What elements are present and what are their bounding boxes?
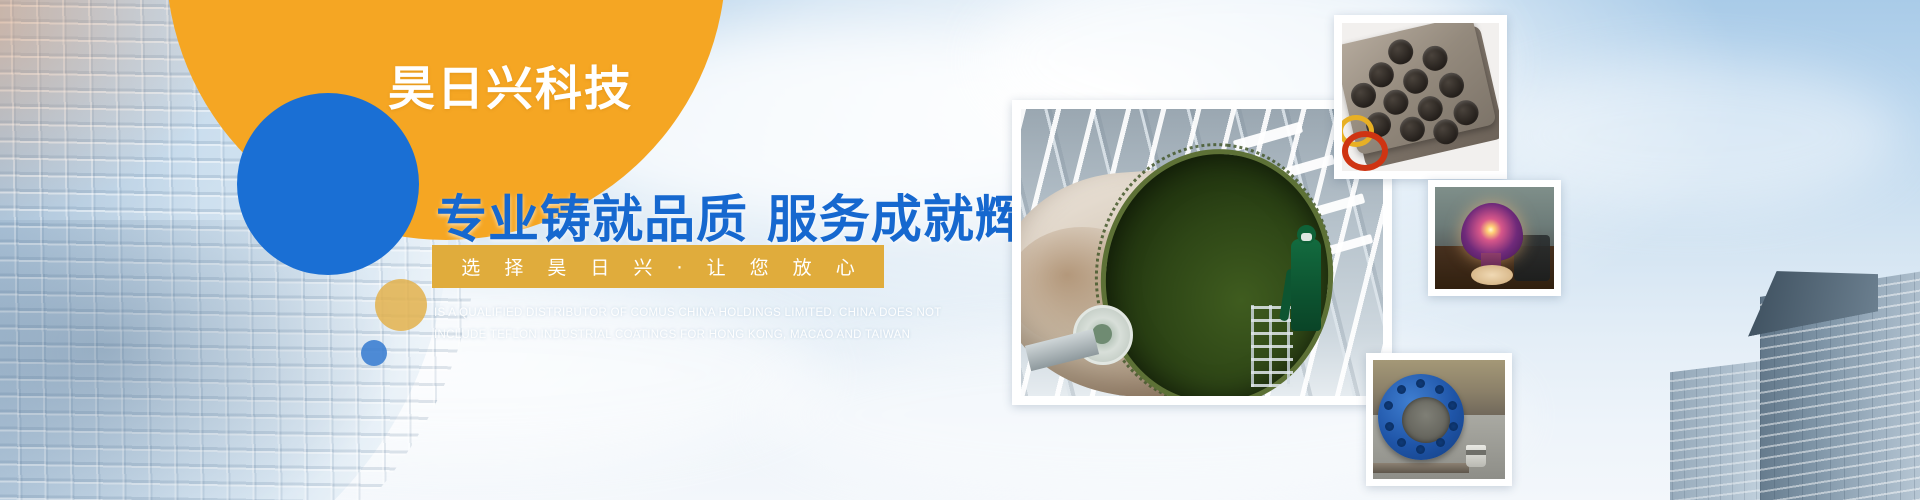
skyscraper-graphic xyxy=(1670,270,1920,500)
flange-center-bore xyxy=(1402,397,1450,443)
blue-coated-flange-photo xyxy=(1366,353,1512,486)
skyscraper-secondary xyxy=(1670,360,1770,500)
paint-bucket xyxy=(1466,445,1486,467)
headline-slogan: 专业铸就品质 服务成就辉煌 xyxy=(436,178,1079,252)
worker-in-green-suit xyxy=(1291,239,1321,331)
flange-bolt-hole xyxy=(1416,379,1425,388)
flange-bolt-hole xyxy=(1435,385,1444,394)
infrared-heat-lamp-photo xyxy=(1428,180,1561,296)
flange-bolt-hole xyxy=(1385,422,1394,431)
pan-photo-scene xyxy=(1342,23,1499,171)
pan-cup xyxy=(1381,87,1411,117)
hand-holding-bulb xyxy=(1471,265,1513,285)
nonstick-baking-pan-photo xyxy=(1334,15,1507,179)
slogan-bar: 选 择 昊 日 兴 · 让 您 放 心 xyxy=(432,245,884,288)
pan-cup xyxy=(1386,37,1416,67)
flange-bolt-hole xyxy=(1384,401,1393,410)
legal-line-1: IS A QUALIFIED DISTRIBUTOR OF COMUS CHIN… xyxy=(434,302,914,324)
worker-mask xyxy=(1301,233,1312,241)
red-coated-ring xyxy=(1342,131,1388,171)
flange-bolt-hole xyxy=(1416,445,1425,454)
wooden-pallet xyxy=(1373,463,1469,473)
legal-disclaimer-text: IS A QUALIFIED DISTRIBUTOR OF COMUS CHIN… xyxy=(434,302,914,346)
flange-bolt-hole xyxy=(1397,438,1406,447)
pan-cup xyxy=(1401,66,1431,96)
flange-bolt-hole xyxy=(1397,385,1406,394)
gold-dot-decoration xyxy=(375,279,427,331)
promotional-banner: 昊日兴科技 专业铸就品质 服务成就辉煌 选 择 昊 日 兴 · 让 您 放 心 … xyxy=(0,0,1920,500)
flange-bolt-hole xyxy=(1448,401,1457,410)
flange-photo-scene xyxy=(1373,360,1505,479)
vessel-photo-scene xyxy=(1021,109,1383,396)
pan-cup xyxy=(1420,43,1450,73)
pan-cup xyxy=(1437,70,1467,100)
slogan-bar-text: 选 择 昊 日 兴 · 让 您 放 心 xyxy=(452,253,863,280)
blue-circle-decoration xyxy=(237,93,419,275)
blue-dot-decoration xyxy=(361,340,387,366)
flange-bolt-hole xyxy=(1436,438,1445,447)
lamp-photo-scene xyxy=(1435,187,1554,289)
blue-flange-ring xyxy=(1378,374,1464,460)
company-brand-name: 昊日兴科技 xyxy=(388,50,633,119)
flange-bolt-hole xyxy=(1449,422,1458,431)
legal-line-2: INCLUDE TEFLON INDUSTRIAL COATINGS FOR H… xyxy=(434,324,914,346)
